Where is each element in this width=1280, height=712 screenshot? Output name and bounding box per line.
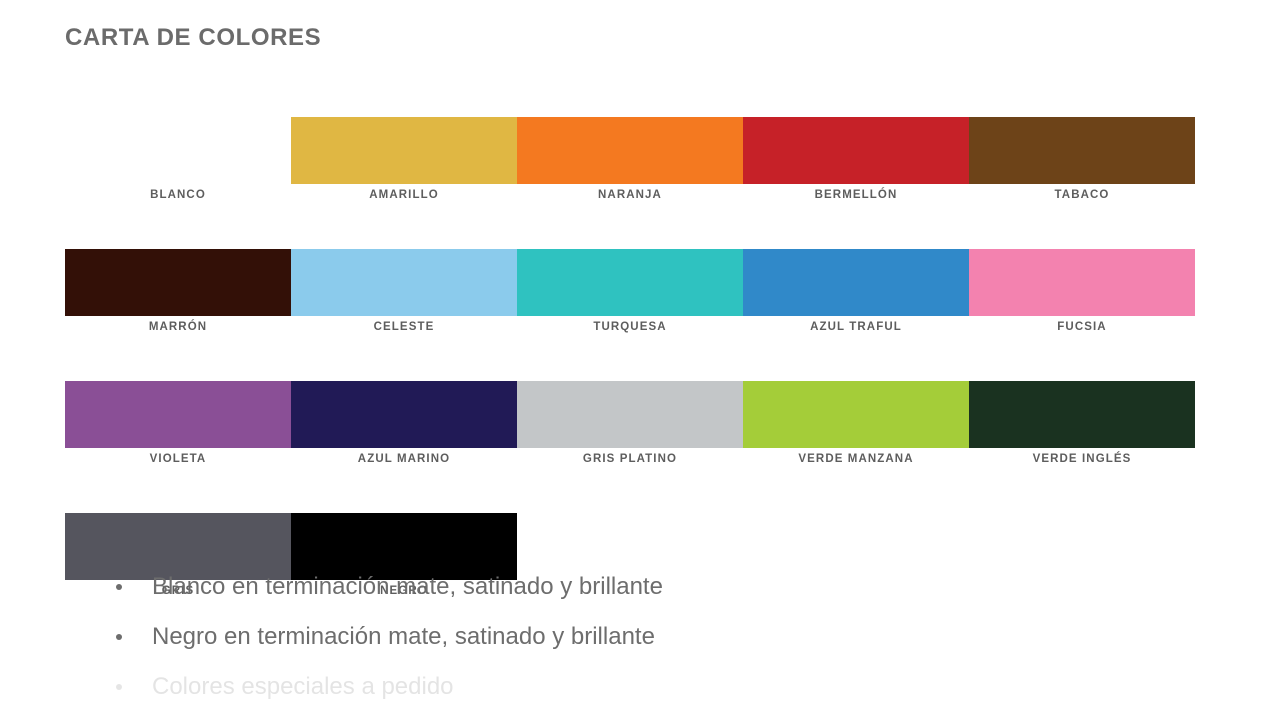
color-swatch-amarillo[interactable] <box>291 117 517 184</box>
label-strip-1: BLANCO AMARILLO NARANJA BERMELLÓN TABACO <box>65 184 1195 206</box>
notes-list: Blanco en terminación mate, satinado y b… <box>108 562 1108 712</box>
color-label-tabaco: TABACO <box>969 184 1195 206</box>
color-row-3: VIOLETA AZUL MARINO GRIS PLATINO VERDE M… <box>65 381 1195 470</box>
color-label-naranja: NARANJA <box>517 184 743 206</box>
color-label-verde-ingles: VERDE INGLÉS <box>969 448 1195 470</box>
color-row-1: BLANCO AMARILLO NARANJA BERMELLÓN TABACO <box>65 117 1195 206</box>
note-text: Blanco en terminación mate, satinado y b… <box>152 573 663 600</box>
bullet-icon <box>116 584 122 590</box>
color-swatch-tabaco[interactable] <box>969 117 1195 184</box>
note-item-especiales: Colores especiales a pedido <box>108 662 1108 712</box>
color-label-turquesa: TURQUESA <box>517 316 743 338</box>
color-swatch-fucsia[interactable] <box>969 249 1195 316</box>
color-label-azul-traful: AZUL TRAFUL <box>743 316 969 338</box>
label-strip-2: MARRÓN CELESTE TURQUESA AZUL TRAFUL FUCS… <box>65 316 1195 338</box>
swatch-strip-1 <box>65 117 1195 184</box>
color-label-celeste: CELESTE <box>291 316 517 338</box>
note-text: Colores especiales a pedido <box>152 673 454 700</box>
color-swatch-violeta[interactable] <box>65 381 291 448</box>
bullet-icon <box>116 634 122 640</box>
color-label-amarillo: AMARILLO <box>291 184 517 206</box>
color-label-fucsia: FUCSIA <box>969 316 1195 338</box>
note-item-blanco: Blanco en terminación mate, satinado y b… <box>108 562 1108 612</box>
color-label-bermellon: BERMELLÓN <box>743 184 969 206</box>
note-text: Negro en terminación mate, satinado y br… <box>152 623 655 650</box>
color-swatch-gris-platino[interactable] <box>517 381 743 448</box>
color-swatch-marron[interactable] <box>65 249 291 316</box>
color-swatch-verde-ingles[interactable] <box>969 381 1195 448</box>
color-swatch-azul-traful[interactable] <box>743 249 969 316</box>
label-strip-3: VIOLETA AZUL MARINO GRIS PLATINO VERDE M… <box>65 448 1195 470</box>
color-label-blanco: BLANCO <box>65 184 291 206</box>
swatch-strip-2 <box>65 249 1195 316</box>
color-swatch-bermellon[interactable] <box>743 117 969 184</box>
color-label-verde-manzana: VERDE MANZANA <box>743 448 969 470</box>
note-item-negro: Negro en terminación mate, satinado y br… <box>108 612 1108 662</box>
color-swatch-turquesa[interactable] <box>517 249 743 316</box>
color-row-2: MARRÓN CELESTE TURQUESA AZUL TRAFUL FUCS… <box>65 249 1195 338</box>
color-label-gris-platino: GRIS PLATINO <box>517 448 743 470</box>
color-swatch-verde-manzana[interactable] <box>743 381 969 448</box>
bullet-icon <box>116 684 122 690</box>
swatch-strip-3 <box>65 381 1195 448</box>
color-swatch-azul-marino[interactable] <box>291 381 517 448</box>
color-swatch-celeste[interactable] <box>291 249 517 316</box>
page-title: CARTA DE COLORES <box>65 26 321 50</box>
color-label-marron: MARRÓN <box>65 316 291 338</box>
color-swatch-blanco[interactable] <box>65 117 291 184</box>
color-label-violeta: VIOLETA <box>65 448 291 470</box>
color-label-azul-marino: AZUL MARINO <box>291 448 517 470</box>
color-swatch-naranja[interactable] <box>517 117 743 184</box>
